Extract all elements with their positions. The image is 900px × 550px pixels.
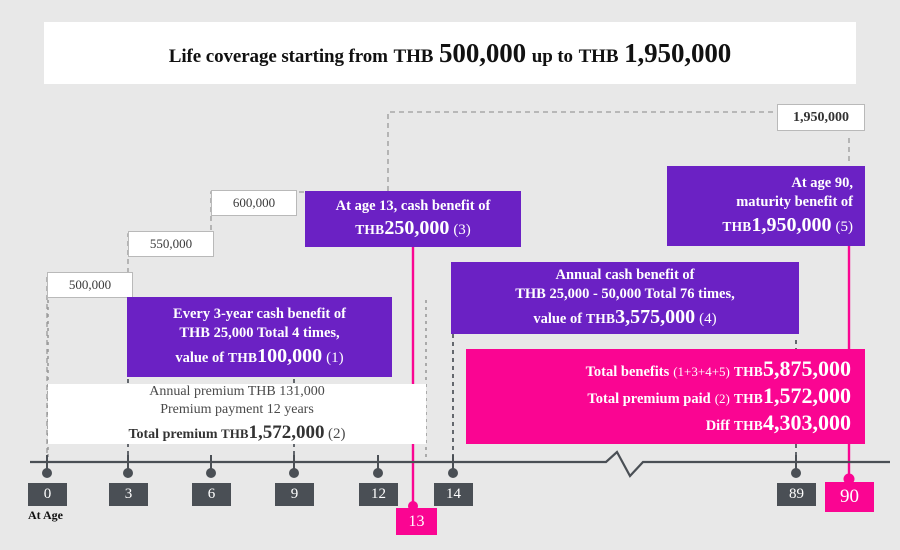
every3-ref: (1) — [326, 350, 344, 366]
title-amount-2: 1,950,000 — [624, 38, 731, 68]
summary-benefits-ref: (1+3+4+5) — [673, 364, 730, 379]
premium-total-ref: (2) — [328, 426, 346, 442]
age13-line1: At age 13, cash benefit of — [336, 197, 491, 216]
summary-diff-label: Diff — [706, 418, 730, 434]
axis-tick-label-13-highlight: 13 — [396, 508, 437, 535]
annual-line2-b: Total 76 times, — [645, 286, 735, 302]
coverage-value-500000: 500,000 — [47, 272, 133, 298]
axis-tick-label-12: 12 — [359, 483, 398, 506]
annual-ref: (4) — [699, 311, 717, 327]
coverage-value-1950000: 1,950,000 — [777, 104, 865, 131]
summary-premium-label: Total premium paid — [587, 391, 710, 407]
summary-benefits-label: Total benefits — [586, 364, 670, 380]
title-thb-2: THB — [579, 46, 619, 67]
premium-total-thb: THB — [221, 426, 248, 441]
axis-caption: At Age — [28, 508, 63, 523]
summary-premium-ref: (2) — [715, 391, 730, 406]
annual-line3-a: value of — [533, 311, 582, 327]
callout-annual-cash-benefit: Annual cash benefit of THB 25,000 - 50,0… — [451, 262, 799, 334]
every3-line1: Every 3-year cash benefit of — [173, 305, 346, 324]
summary-diff-amount: 4,303,000 — [763, 410, 851, 435]
coverage-value-550000: 550,000 — [128, 231, 214, 257]
axis-ticks — [47, 455, 796, 470]
axis-tick-label-9: 9 — [275, 483, 314, 506]
annual-line3: value of THB3,575,000 (4) — [533, 304, 716, 330]
age13-thb: THB — [355, 222, 384, 237]
annual-thb: THB — [586, 311, 615, 326]
every3-line2-a: THB 25,000 — [179, 325, 253, 341]
coverage-value-600000: 600,000 — [211, 190, 297, 216]
axis-tick-label-6: 6 — [192, 483, 231, 506]
axis-dots — [42, 468, 801, 478]
maturity-line2: maturity benefit of — [736, 193, 853, 212]
page-title: Life coverage starting from THB 500,000 … — [169, 38, 731, 69]
every3-line2-b: Total 4 times, — [257, 325, 340, 341]
title-part2: up to — [532, 46, 573, 67]
callout-age-13: At age 13, cash benefit of THB250,000 (3… — [305, 191, 521, 247]
axis-tick-label-3: 3 — [109, 483, 148, 506]
summary-premium-thb: THB — [734, 391, 763, 406]
every3-amount: 100,000 — [257, 345, 322, 367]
title-thb-1: THB — [394, 46, 434, 67]
axis-tick-label-14: 14 — [434, 483, 473, 506]
maturity-line1: At age 90, — [791, 174, 853, 193]
axis-tick-label-0: 0 — [28, 483, 67, 506]
title-part1: Life coverage starting from — [169, 46, 388, 67]
annual-line2-a: THB 25,000 - 50,000 — [515, 286, 641, 302]
summary-diff-thb: THB — [734, 418, 763, 433]
every3-line3: value of THB100,000 (1) — [175, 343, 343, 369]
summary-row-total-benefits: Total benefits (1+3+4+5) THB5,875,000 — [586, 356, 851, 383]
maturity-amount: 1,950,000 — [752, 214, 832, 236]
premium-line3: Total premium THB1,572,000 (2) — [128, 420, 345, 445]
summary-row-total-premium: Total premium paid (2) THB1,572,000 — [587, 383, 851, 410]
axis-tick-label-89: 89 — [777, 483, 816, 506]
axis-tick-label-90-highlight: 90 — [825, 482, 874, 512]
maturity-line3: THB1,950,000 (5) — [722, 212, 853, 238]
summary-row-diff: Diff THB4,303,000 — [706, 410, 851, 437]
premium-total-label: Total premium — [128, 427, 217, 442]
title-amount-1: 500,000 — [439, 38, 526, 68]
summary-premium-amount: 1,572,000 — [763, 383, 851, 408]
summary-benefits-thb: THB — [734, 364, 763, 379]
callout-every-3-year: Every 3-year cash benefit of THB 25,000 … — [127, 297, 392, 377]
summary-benefits-amount: 5,875,000 — [763, 356, 851, 381]
maturity-ref: (5) — [836, 219, 854, 235]
premium-line2: Premium payment 12 years — [160, 401, 314, 419]
annual-line1: Annual cash benefit of — [556, 266, 695, 285]
premium-total-amount: 1,572,000 — [249, 422, 325, 443]
callout-summary-totals: Total benefits (1+3+4+5) THB5,875,000 To… — [466, 349, 865, 444]
callout-maturity-age-90: At age 90, maturity benefit of THB1,950,… — [667, 166, 865, 246]
title-banner: Life coverage starting from THB 500,000 … — [44, 22, 856, 84]
infographic-canvas: Life coverage starting from THB 500,000 … — [0, 0, 900, 550]
premium-info-box: Annual premium THB 131,000 Premium payme… — [48, 384, 426, 444]
every3-thb: THB — [228, 350, 257, 365]
age-13-marker-line — [408, 246, 418, 511]
every3-line2: THB 25,000 Total 4 times, — [179, 324, 339, 343]
every3-line3-a: value of — [175, 350, 224, 366]
maturity-thb: THB — [722, 219, 751, 234]
premium-line1: Annual premium THB 131,000 — [149, 383, 325, 401]
annual-line2: THB 25,000 - 50,000 Total 76 times, — [515, 285, 735, 304]
age13-amount: 250,000 — [384, 217, 449, 239]
age-axis — [30, 452, 890, 476]
age13-line2: THB250,000 (3) — [355, 215, 471, 241]
annual-amount: 3,575,000 — [615, 306, 695, 328]
age13-ref: (3) — [453, 222, 471, 238]
